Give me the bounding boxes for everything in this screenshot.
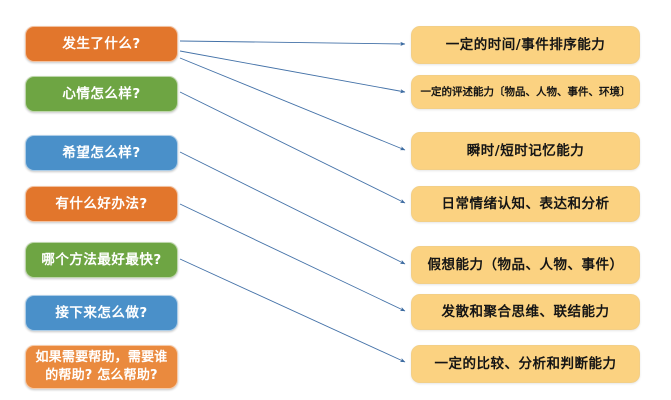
ability-label: 日常情绪认知、表达和分析 [442, 196, 610, 212]
ability-box-a4[interactable]: 日常情绪认知、表达和分析 [411, 186, 640, 222]
question-label: 哪个方法最好最快? [41, 252, 161, 268]
ability-label: 一定的比较、分析和判断能力 [435, 356, 617, 372]
connector-arrow-q2-to-a4 [180, 92, 405, 203]
connector-arrow-q4-to-a6 [180, 204, 405, 311]
connector-arrow-q1-to-a1 [180, 41, 405, 44]
question-label: 接下来怎么做? [55, 305, 147, 321]
question-label: 发生了什么? [62, 36, 140, 52]
question-box-q4[interactable]: 有什么好办法? [25, 186, 178, 222]
question-label: 心情怎么样? [62, 86, 140, 102]
ability-box-a7[interactable]: 一定的比较、分析和判断能力 [411, 345, 640, 383]
ability-box-a6[interactable]: 发散和聚合思维、联结能力 [411, 294, 640, 330]
ability-box-a3[interactable]: 瞬时/短时记忆能力 [411, 132, 640, 170]
ability-box-a1[interactable]: 一定的时间/事件排序能力 [411, 26, 640, 64]
question-box-q1[interactable]: 发生了什么? [25, 26, 178, 62]
connector-arrow-q1-to-a2 [180, 51, 405, 92]
question-box-q6[interactable]: 接下来怎么做? [25, 295, 178, 331]
question-box-q7[interactable]: 如果需要帮助，需要谁的帮助? 怎么帮助? [25, 345, 178, 389]
ability-label: 一定的时间/事件排序能力 [446, 37, 605, 53]
diagram-canvas: 发生了什么?心情怎么样?希望怎么样?有什么好办法?哪个方法最好最快?接下来怎么做… [0, 0, 671, 400]
question-box-q3[interactable]: 希望怎么样? [25, 135, 178, 171]
question-box-q2[interactable]: 心情怎么样? [25, 76, 178, 112]
ability-box-a2[interactable]: 一定的评述能力〔物品、人物、事件、环境〕 [411, 75, 640, 109]
connector-arrow-q1-to-a3 [180, 58, 405, 150]
question-label: 如果需要帮助，需要谁的帮助? 怎么帮助? [32, 349, 171, 384]
connector-arrow-q3-to-a5 [180, 152, 405, 264]
ability-box-a5[interactable]: 假想能力（物品、人物、事件） [411, 246, 640, 284]
question-box-q5[interactable]: 哪个方法最好最快? [25, 242, 178, 278]
connector-arrow-q5-to-a7 [180, 259, 405, 362]
ability-label: 发散和聚合思维、联结能力 [442, 304, 610, 320]
connector-group [180, 41, 405, 362]
ability-label: 一定的评述能力〔物品、人物、事件、环境〕 [421, 86, 631, 99]
ability-label: 瞬时/短时记忆能力 [467, 143, 584, 159]
question-label: 有什么好办法? [55, 196, 147, 212]
ability-label: 假想能力（物品、人物、事件） [428, 257, 624, 273]
question-label: 希望怎么样? [62, 145, 140, 161]
